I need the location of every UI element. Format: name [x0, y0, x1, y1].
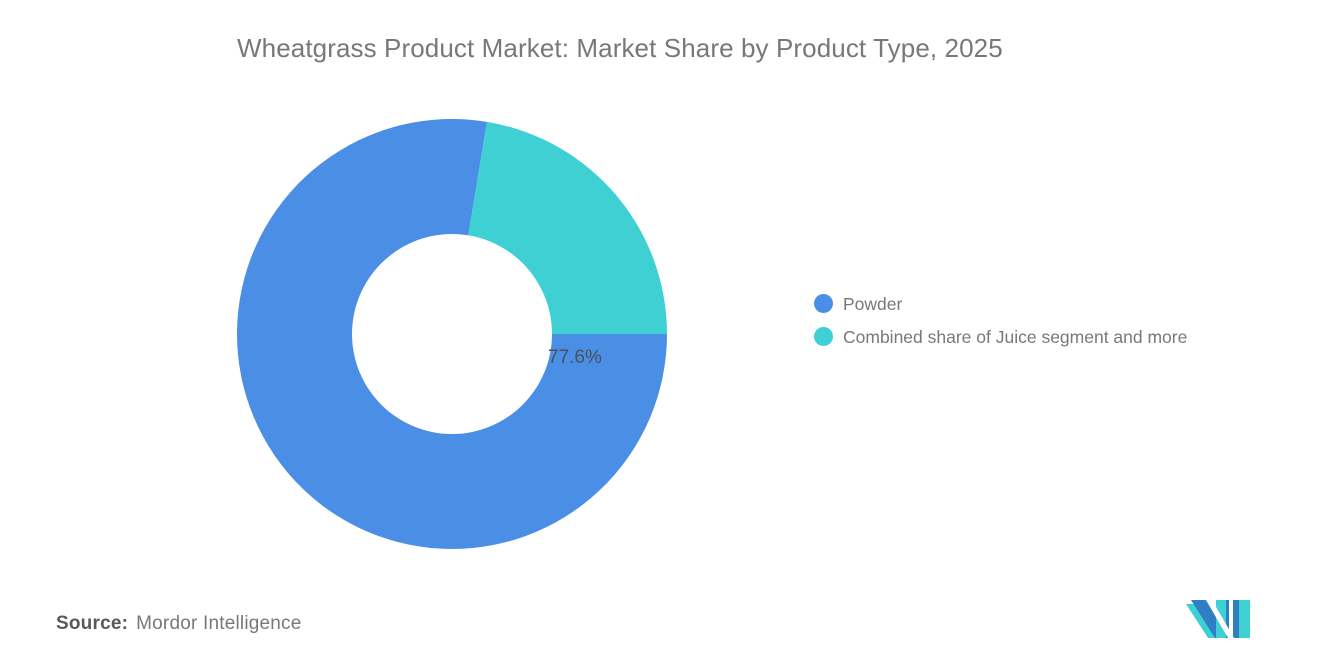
source-line: Source: Mordor Intelligence [56, 613, 302, 635]
donut-chart-svg [237, 119, 667, 549]
source-label: Source: [56, 613, 128, 635]
circle-marker-icon [814, 327, 833, 346]
circle-marker-icon [814, 294, 833, 313]
donut-hole [352, 234, 552, 434]
slice-label-powder: 77.6% [548, 346, 602, 370]
donut-chart: 77.6% [237, 119, 667, 549]
legend-item-juice-and-more[interactable]: Combined share of Juice segment and more [814, 320, 1304, 353]
source-value: Mordor Intelligence [136, 613, 301, 635]
legend-label-powder: Powder [843, 293, 902, 315]
mordor-intelligence-logo-mark [1186, 598, 1252, 638]
mordor-intelligence-logo [1186, 598, 1252, 638]
page-title: Wheatgrass Product Market: Market Share … [237, 31, 1187, 65]
legend-item-powder[interactable]: Powder [814, 287, 1304, 320]
legend-label-juice-and-more: Combined share of Juice segment and more [843, 326, 1187, 348]
chart-legend: Powder Combined share of Juice segment a… [814, 287, 1304, 353]
